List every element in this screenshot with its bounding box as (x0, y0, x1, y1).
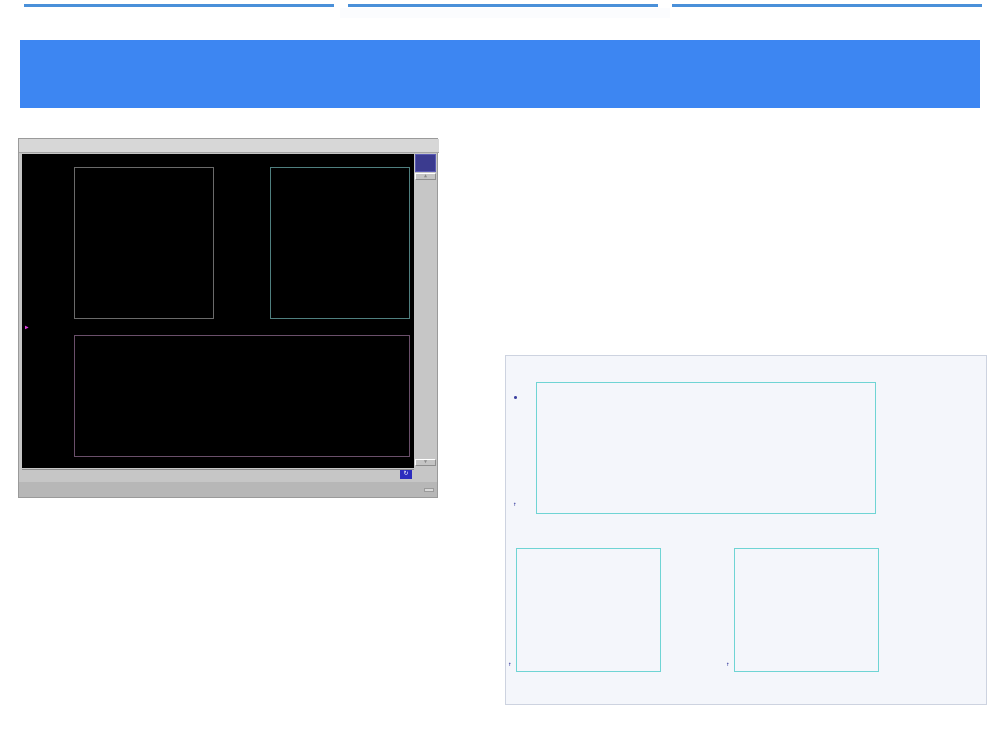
tr2-trace (270, 167, 410, 319)
top-rule-center (348, 4, 658, 7)
vna-status-bar (19, 482, 437, 497)
vna-screenshot: ▶ ▲ ▼ ↻ (18, 138, 438, 498)
top-rule-group (0, 0, 1000, 10)
softkey-scroll-down-icon[interactable]: ▼ (415, 459, 436, 466)
sweep-continuous-icon[interactable]: ↻ (400, 470, 412, 479)
hp-ch2-trace (516, 548, 661, 672)
hp-ch1-start-arrow-icon: ↑ (513, 501, 517, 508)
tr1-trace (74, 167, 214, 319)
top-rule-left (24, 4, 334, 7)
status-datetime (424, 488, 434, 492)
softkey-scroll-up-icon[interactable]: ▲ (415, 173, 436, 180)
hp-ch4-trace (734, 548, 879, 672)
hp-analyzer-screenshot: ↑ ↑ ↑ (505, 355, 987, 705)
vna-plot-area: ▶ (22, 154, 414, 468)
top-watermark (340, 8, 670, 18)
vna-softkey-panel[interactable]: ▲ ▼ (415, 154, 436, 468)
title-banner (20, 40, 980, 108)
tr3-title-row: ▶ (25, 324, 37, 331)
vna-menubar[interactable] (19, 139, 439, 153)
hp-ch2-start-arrow-icon: ↑ (508, 661, 512, 668)
vna-stimulus-bar: ↻ (22, 469, 414, 480)
page-title (20, 40, 980, 108)
hp-ch1-ref-dot-icon (514, 396, 517, 399)
hp-ch4-start-arrow-icon: ↑ (726, 661, 730, 668)
top-rule-right (672, 4, 982, 7)
softkey-header-system[interactable] (415, 154, 436, 172)
tr3-trace (74, 335, 410, 457)
hp-ch1-trace (536, 382, 876, 514)
tr3-active-arrow-icon: ▶ (25, 324, 29, 331)
